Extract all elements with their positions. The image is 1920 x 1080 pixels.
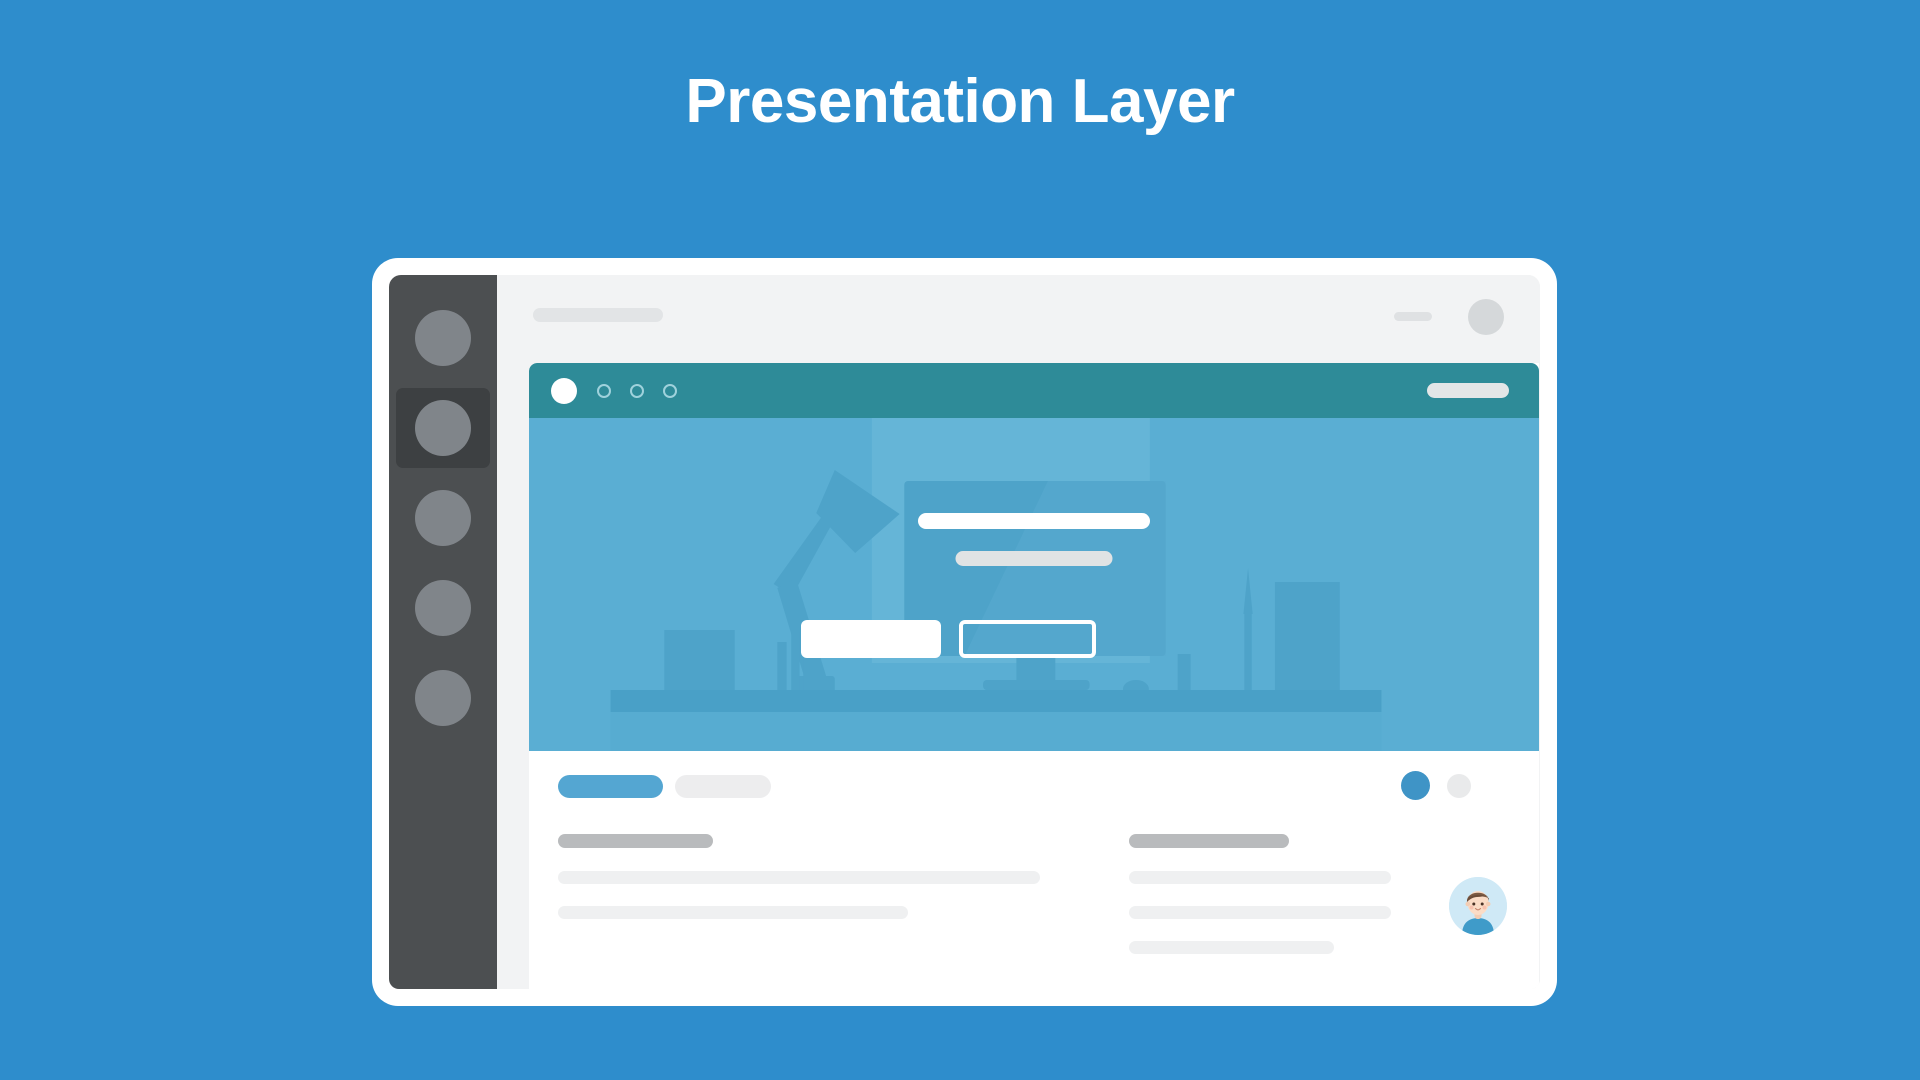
hero-banner [529, 418, 1539, 751]
circle-icon [415, 580, 471, 636]
tab-inactive[interactable] [675, 775, 771, 798]
sidebar-item-1[interactable] [389, 293, 497, 383]
browser-chrome-bar [529, 363, 1539, 418]
hero-secondary-button[interactable] [959, 620, 1096, 658]
device-frame [372, 258, 1557, 1006]
carousel-dot-active[interactable] [1401, 771, 1430, 800]
text-line-placeholder [558, 906, 908, 919]
right-column [1129, 834, 1391, 976]
circle-outline-icon[interactable] [597, 384, 611, 398]
circle-filled-icon[interactable] [551, 378, 577, 404]
app-body [497, 275, 1540, 989]
content-section [529, 751, 1539, 989]
circle-icon [415, 670, 471, 726]
hero-subheadline-placeholder [956, 551, 1113, 566]
sidebar-item-3[interactable] [389, 473, 497, 563]
circle-icon [415, 400, 471, 456]
carousel-dot-inactive[interactable] [1447, 774, 1471, 798]
support-agent-avatar-icon[interactable] [1449, 877, 1507, 935]
app-sidebar [389, 275, 497, 989]
sidebar-item-5[interactable] [389, 653, 497, 743]
app-logo-placeholder [533, 308, 663, 322]
support-agent-illustration [1449, 877, 1507, 935]
left-column [558, 834, 1040, 941]
text-line-placeholder [558, 871, 1040, 884]
page-title: Presentation Layer [0, 68, 1920, 136]
app-topbar [497, 275, 1540, 353]
menu-bar-icon[interactable] [1394, 312, 1432, 321]
text-line-placeholder [1129, 906, 1391, 919]
text-line-placeholder [1129, 941, 1334, 954]
user-avatar-icon[interactable] [1468, 299, 1504, 335]
circle-icon [415, 490, 471, 546]
circle-outline-icon[interactable] [663, 384, 677, 398]
browser-window [529, 363, 1539, 989]
hero-content [529, 418, 1539, 751]
sidebar-item-4[interactable] [389, 563, 497, 653]
circle-icon [415, 310, 471, 366]
url-bar-placeholder[interactable] [1427, 383, 1509, 398]
device-screen [389, 275, 1540, 989]
sidebar-item-2[interactable] [389, 383, 497, 473]
text-heading-placeholder [558, 834, 713, 848]
hero-primary-button[interactable] [801, 620, 941, 658]
tab-active[interactable] [558, 775, 663, 798]
text-heading-placeholder [1129, 834, 1289, 848]
hero-headline-placeholder [918, 513, 1150, 529]
text-line-placeholder [1129, 871, 1391, 884]
circle-outline-icon[interactable] [630, 384, 644, 398]
